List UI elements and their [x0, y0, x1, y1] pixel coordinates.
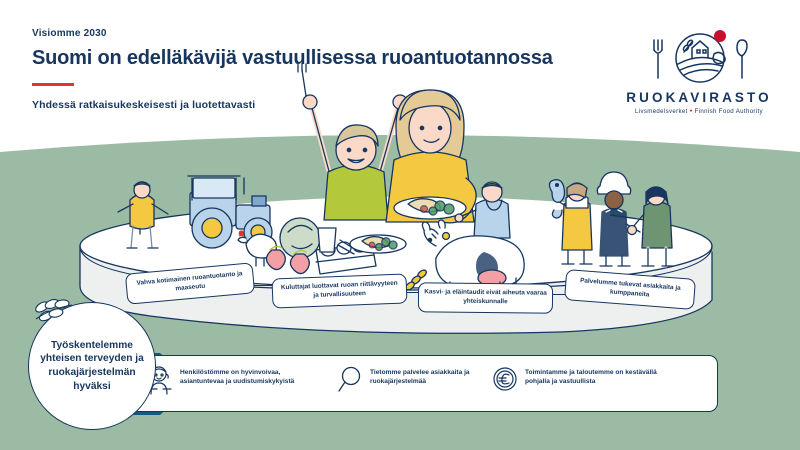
callout-text-3: Kasvi- ja eläintaudit eivät aiheuta vaar…	[419, 289, 552, 308]
figure-woman-with-plate	[386, 90, 476, 223]
bottom-item-personnel[interactable]: Henkilöstömme on hyvinvoivaa, asiantunte…	[147, 365, 322, 395]
callout-box-2[interactable]: Kuluttajat luottavat ruoan riittävyyteen…	[271, 273, 407, 308]
bottom-item-text-3: Toimintamme ja taloutemme on kestävällä …	[525, 365, 677, 387]
callout-text-1: Vahva kotimainen ruoantuotanto ja maaseu…	[126, 269, 253, 298]
bottom-item-text-2: Tietomme palvelee asiakkaita ja ruokajär…	[370, 365, 487, 387]
mission-circle-text: Työskentelemme yhteisen terveyden ja ruo…	[29, 339, 155, 393]
magnifier-icon	[337, 365, 363, 395]
bottom-values-bar: Henkilöstömme on hyvinvoivaa, asiantunte…	[96, 355, 718, 412]
bottom-item-economy[interactable]: Toimintamme ja taloutemme on kestävällä …	[492, 365, 677, 395]
wheat-decoration-icon	[30, 297, 80, 333]
euro-coin-icon	[492, 365, 518, 395]
callout-text-4: Palvelumme tukevat asiakkaita ja kumppan…	[566, 276, 695, 303]
callout-text-2: Kuluttajat luottavat ruoan riittävyyteen…	[273, 280, 407, 302]
bottom-item-text-1: Henkilöstömme on hyvinvoivaa, asiantunte…	[180, 365, 322, 387]
callout-box-3[interactable]: Kasvi- ja eläintaudit eivät aiheuta vaar…	[418, 282, 553, 313]
infographic-canvas: Visiomme 2030 Suomi on edelläkävijä vast…	[0, 0, 800, 450]
bottom-item-knowledge[interactable]: Tietomme palvelee asiakkaita ja ruokajär…	[337, 365, 487, 395]
